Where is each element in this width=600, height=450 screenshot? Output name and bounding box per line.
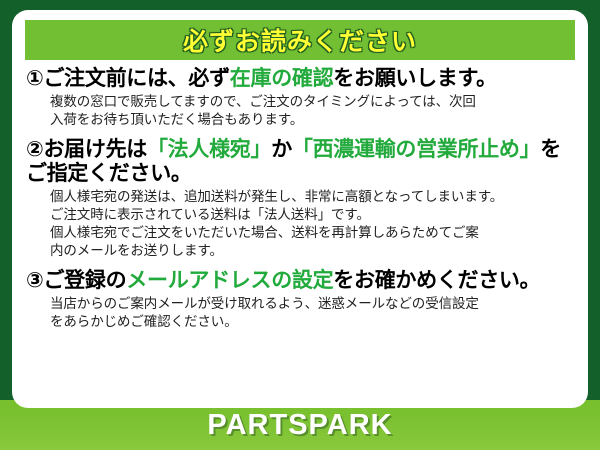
notice-item-1-marker: ① — [26, 66, 43, 90]
notice-item-3-heading-pre: ご登録の — [43, 268, 126, 292]
notice-item-2-heading-pre: お届け先は — [43, 137, 147, 161]
notice-item-2-body: 個人様宅宛の発送は、追加送料が発生し、非常に高額となってしまいます。 ご注文時に… — [20, 185, 580, 260]
banner-title: 必ずお読みください — [183, 22, 417, 58]
notice-item-3-marker: ③ — [26, 268, 43, 292]
notice-banner-image: PARTSPARK 必ずお読みください ①ご注文前には、必ず在庫の確認をお願いし… — [0, 0, 600, 450]
notice-item-2-marker: ② — [26, 137, 43, 161]
notice-item-3-heading: ③ご登録のメールアドレスの設定をお確かめください。 — [20, 268, 580, 292]
notice-item-1-heading-pre: ご注文前には、必ず — [43, 66, 229, 90]
notice-card: 必ずお読みください ①ご注文前には、必ず在庫の確認をお願いします。 複数の窓口で… — [12, 10, 588, 408]
notice-item-2-body-line-3: 個人様宅宛でご注文をいただいた場合、送料を再計算しあらためてご案 — [50, 224, 580, 242]
title-banner: 必ずお読みください — [25, 20, 575, 60]
notice-item-2-body-line-2: ご注文時に表示されている送料は「法人送料」です。 — [50, 206, 580, 224]
notice-item-3-body-line-2: をあらかじめご確認ください。 — [50, 313, 580, 331]
notice-item-2-body-line-4: 内のメールをお送りします。 — [50, 242, 580, 260]
notice-item-1-heading: ①ご注文前には、必ず在庫の確認をお願いします。 — [20, 66, 580, 90]
notice-item-1-body-line-1: 複数の窓口で販売してますので、ご注文のタイミングによっては、次回 — [50, 93, 580, 111]
notice-item-3: ③ご登録のメールアドレスの設定をお確かめください。 当店からのご案内メールが受け… — [20, 268, 580, 332]
notice-item-2: ②お届け先は「法人様宛」か「西濃運輸の営業所止め」をご指定ください。 個人様宅宛… — [20, 137, 580, 261]
notice-item-3-heading-highlight: メールアドレスの設定 — [126, 268, 333, 292]
notice-item-2-heading: ②お届け先は「法人様宛」か「西濃運輸の営業所止め」をご指定ください。 — [20, 137, 580, 186]
notice-item-3-heading-post: をお確かめください。 — [333, 268, 540, 292]
notice-item-3-body: 当店からのご案内メールが受け取れるよう、迷惑メールなどの受信設定 をあらかじめご… — [20, 292, 580, 331]
notice-item-1: ①ご注文前には、必ず在庫の確認をお願いします。 複数の窓口で販売してますので、ご… — [20, 66, 580, 130]
notice-item-2-heading-highlight: 「法人様宛」 — [147, 137, 271, 161]
brand-name: PARTSPARK — [207, 409, 392, 442]
notice-item-3-body-line-1: 当店からのご案内メールが受け取れるよう、迷惑メールなどの受信設定 — [50, 295, 580, 313]
notice-item-1-heading-highlight: 在庫の確認 — [230, 66, 334, 90]
notice-item-2-body-line-1: 個人様宅宛の発送は、追加送料が発生し、非常に高額となってしまいます。 — [50, 188, 580, 206]
notice-items-list: ①ご注文前には、必ず在庫の確認をお願いします。 複数の窓口で販売してますので、ご… — [12, 66, 588, 338]
notice-item-2-heading-highlight2: 「西濃運輸の営業所止め」 — [292, 137, 540, 161]
notice-item-1-body: 複数の窓口で販売してますので、ご注文のタイミングによっては、次回 入荷をお待ち頂… — [20, 90, 580, 129]
notice-item-2-heading-mid: か — [271, 137, 292, 161]
notice-item-1-body-line-2: 入荷をお待ち頂いただく場合もあります。 — [50, 111, 580, 129]
notice-item-1-heading-post: をお願いします。 — [333, 66, 497, 90]
